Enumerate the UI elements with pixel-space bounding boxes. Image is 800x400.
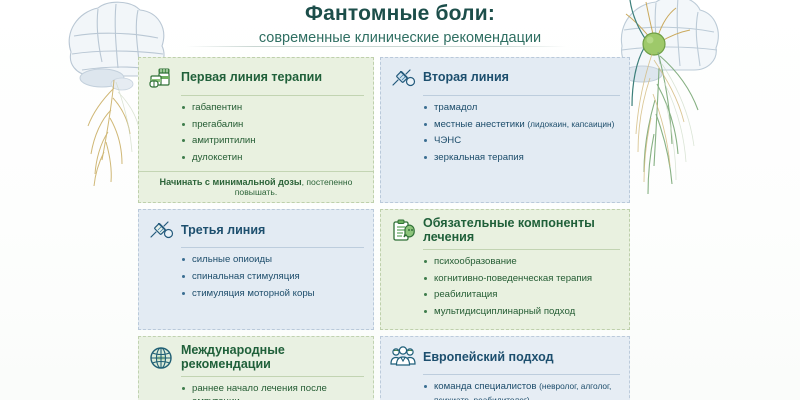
list-item-text: габапентин [192,102,242,113]
card-second-line[interactable]: Вторая линия трамадол местные анестетики… [380,57,630,203]
syringe-icon [148,217,174,243]
card-third-line[interactable]: Третья линия сильные опиоиды спинальная … [138,209,374,330]
cards-grid: Первая линия терапии габапентин прегабал… [138,57,630,400]
list-item-text: психообразование [434,256,517,267]
card-header-rule [181,95,364,96]
list-item: местные анестетики (лидокаин, капсаицин) [424,118,620,132]
list-item: прегабалин [182,118,364,132]
card-header: Вторая линия [390,65,620,95]
page-subtitle: современные клинические рекомендации [0,30,800,47]
list-item-text: раннее начало лечения после ампутации [192,383,327,400]
card-header-rule [181,376,364,377]
list-item: психообразование [424,255,620,269]
card-title: Третья линия [181,224,265,238]
list-item: сильные опиоиды [182,253,364,267]
list-item: команда специалистов (невролог, алголог,… [424,380,620,400]
card-title: Международные рекомендации [181,344,364,372]
card-mandatory-components[interactable]: Обязательные компоненты лечения психообр… [380,209,630,330]
list-item-text: местные анестетики [434,119,527,130]
card-header-rule [423,95,620,96]
card-header-rule [423,374,620,375]
list-item: амитриптилин [182,134,364,148]
list-item-text: амитриптилин [192,135,256,146]
list-item-text: мультидисциплинарный подход [434,306,575,317]
card-note-strong: Начинать с минимальной дозы [160,177,302,187]
card-item-list: команда специалистов (невролог, алголог,… [390,380,620,400]
list-item: ЧЭНС [424,134,620,148]
card-title: Вторая линия [423,71,509,85]
list-item-text: ЧЭНС [434,135,461,146]
header-divider [186,46,566,47]
page-header: Фантомные боли: современные клинические … [0,2,800,48]
card-header: Первая линия терапии [148,65,364,95]
card-header: Европейский подход [390,344,620,374]
card-header: Третья линия [148,217,364,247]
card-european-approach[interactable]: Европейский подход команда специалистов … [380,336,630,400]
syringe-icon [390,65,416,91]
card-title: Европейский подход [423,351,554,365]
card-header-rule [181,247,364,248]
list-item: дулоксетин [182,151,364,165]
pill-bottles-icon [148,65,174,91]
list-item: стимуляция моторной коры [182,287,364,301]
list-item: раннее начало лечения после ампутации [182,382,364,400]
list-item-text: сильные опиоиды [192,254,272,265]
list-item: габапентин [182,101,364,115]
card-header-rule [423,249,620,250]
list-item-text: трамадол [434,102,477,113]
list-item: мультидисциплинарный подход [424,305,620,319]
list-item-paren: (лидокаин, капсаицин) [527,119,614,129]
list-item-text: когнитивно-поведенческая терапия [434,273,592,284]
list-item: реабилитация [424,288,620,302]
card-header: Обязательные компоненты лечения [390,217,620,249]
card-item-list: психообразование когнитивно-поведенческа… [390,255,620,318]
list-item-text: дулоксетин [192,152,242,163]
card-note: Начинать с минимальной дозы, постепенно … [139,171,373,202]
cards-row-2: Третья линия сильные опиоиды спинальная … [138,209,630,330]
card-item-list: сильные опиоиды спинальная стимуляция ст… [148,253,364,300]
card-title: Обязательные компоненты лечения [423,217,620,245]
list-item: спинальная стимуляция [182,270,364,284]
list-item-text: зеркальная терапия [434,152,524,163]
card-title: Первая линия терапии [181,71,322,85]
card-item-list: раннее начало лечения после ампутации ко… [148,382,364,400]
list-item: зеркальная терапия [424,151,620,165]
list-item-text: спинальная стимуляция [192,271,300,282]
card-item-list: габапентин прегабалин амитриптилин дулок… [148,101,364,164]
card-item-list: трамадол местные анестетики (лидокаин, к… [390,101,620,164]
globe-icon [148,345,174,371]
three-people-icon [390,344,416,370]
card-header: Международные рекомендации [148,344,364,376]
cards-row-1: Первая линия терапии габапентин прегабал… [138,57,630,203]
page-title: Фантомные боли: [0,2,800,26]
card-first-line-therapy[interactable]: Первая линия терапии габапентин прегабал… [138,57,374,203]
list-item-text: команда специалистов [434,381,539,392]
list-item-text: прегабалин [192,119,243,130]
list-item-text: реабилитация [434,289,498,300]
list-item-text: стимуляция моторной коры [192,288,315,299]
card-international-recommendations[interactable]: Международные рекомендации раннее начало… [138,336,374,400]
clipboard-with-head-icon [390,218,416,244]
list-item: трамадол [424,101,620,115]
infographic-page: Фантомные боли: современные клинические … [0,0,800,400]
list-item: когнитивно-поведенческая терапия [424,272,620,286]
cards-row-3: Международные рекомендации раннее начало… [138,336,630,400]
